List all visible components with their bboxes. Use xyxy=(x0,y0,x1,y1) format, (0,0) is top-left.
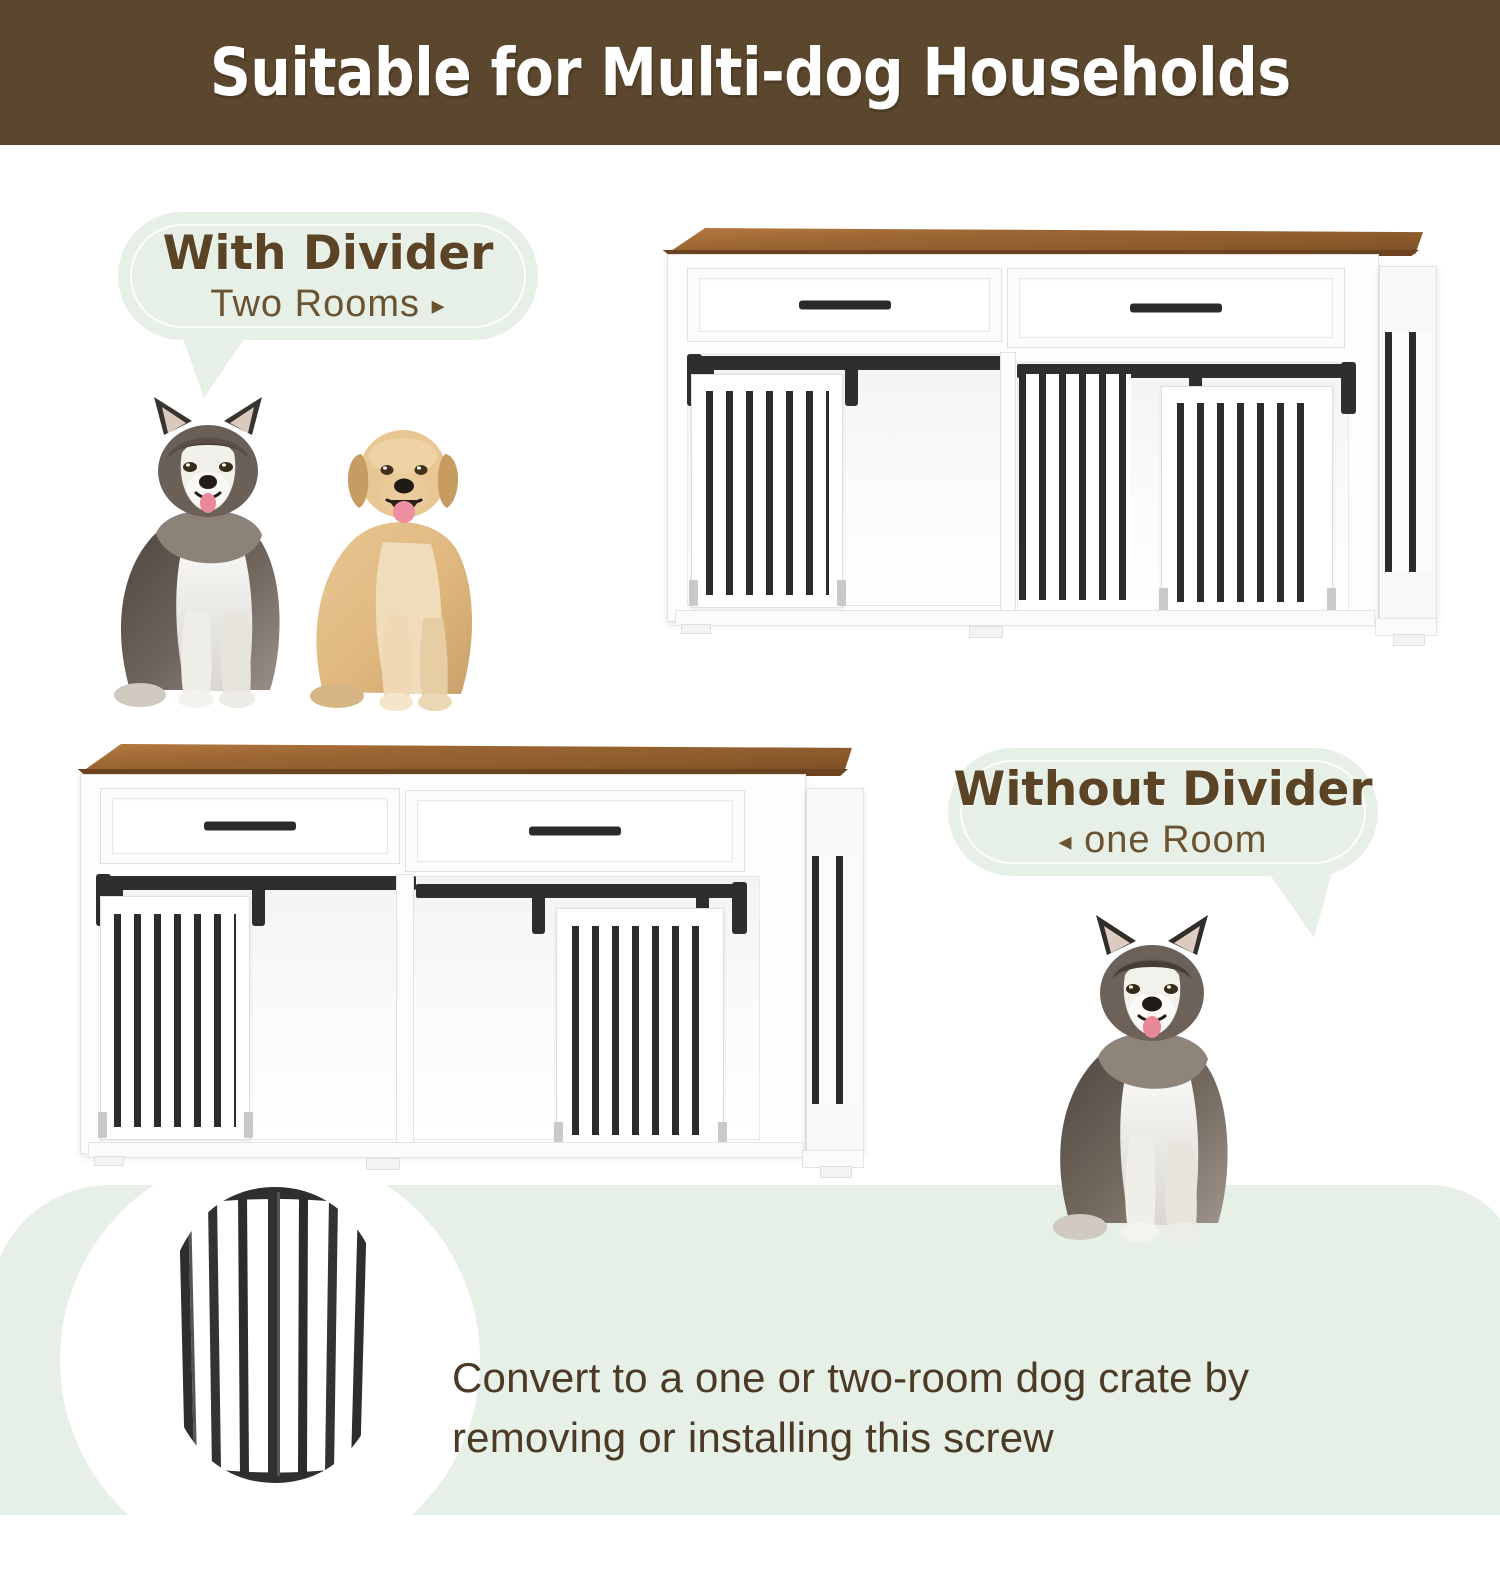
drawer-handle[interactable] xyxy=(204,822,296,831)
crate-wood-top xyxy=(66,744,852,772)
sliding-door-left-bars xyxy=(114,914,235,1127)
sliding-door-right-bars xyxy=(572,926,708,1135)
sliding-door-right[interactable] xyxy=(556,908,724,1148)
rail-end-cap-right xyxy=(732,882,747,934)
crate-plinth xyxy=(88,1142,804,1158)
door-hinge-left-bottom xyxy=(837,580,846,606)
dog-photo-malamute-single xyxy=(1040,905,1255,1250)
crate-side-bars-right xyxy=(1385,332,1431,572)
drawer-handle[interactable] xyxy=(799,301,891,310)
arrow-left-icon: ◂ xyxy=(1059,826,1073,856)
callout-with-divider-tail xyxy=(182,336,246,398)
crate-foot-center xyxy=(366,1158,400,1170)
door-hinge-left-top xyxy=(689,580,698,606)
crate-center-divider xyxy=(1000,352,1016,618)
door-hinge-left-bottom xyxy=(244,1112,253,1138)
crate-drawer-left[interactable] xyxy=(687,268,1002,342)
sliding-door-right[interactable] xyxy=(1161,386,1333,614)
rail-roller-left-b xyxy=(845,366,858,406)
dog-photo-labrador xyxy=(295,392,495,717)
callout-without-divider: Without Divider ◂ one Room xyxy=(948,748,1378,876)
crate-foot-left xyxy=(681,624,711,634)
drawer-handle[interactable] xyxy=(529,827,621,836)
callout-with-divider-subtitle-text: Two Rooms xyxy=(210,283,420,325)
bottom-caption: Convert to a one or two-room dog crate b… xyxy=(452,1348,1452,1467)
callout-with-divider: With Divider Two Rooms ▸ xyxy=(118,212,538,340)
sliding-door-left-bars xyxy=(706,391,829,595)
callout-with-divider-subtitle: Two Rooms ▸ xyxy=(210,283,445,326)
bar-panel-detail-circle xyxy=(155,1185,395,1485)
crate-side-bars-right xyxy=(812,856,858,1104)
crate-foot-right xyxy=(820,1166,852,1178)
page-title: Suitable for Multi-dog Households xyxy=(210,34,1291,111)
crate-drawer-left[interactable] xyxy=(100,788,400,864)
caption-line-2: removing or installing this screw xyxy=(452,1408,1452,1468)
crate-plinth xyxy=(675,610,1375,626)
crate-inner-wall-bars-right xyxy=(1019,374,1131,600)
dog-photo-malamute xyxy=(100,385,310,715)
callout-without-divider-subtitle-text: one Room xyxy=(1084,819,1267,861)
rail-roller-right-a xyxy=(532,894,545,934)
callout-without-divider-title: Without Divider xyxy=(953,762,1372,817)
header-banner: Suitable for Multi-dog Households xyxy=(0,0,1500,145)
crate-foot-left xyxy=(94,1156,124,1166)
callout-with-divider-title: With Divider xyxy=(163,226,494,281)
sliding-door-left[interactable] xyxy=(691,374,843,608)
rail-end-cap-right xyxy=(1341,362,1356,414)
crate-drawer-right[interactable] xyxy=(405,790,745,872)
crate-foot-right xyxy=(1393,634,1425,646)
drawer-handle[interactable] xyxy=(1130,304,1222,313)
product-crate-without-divider xyxy=(60,740,870,1190)
caption-line-1: Convert to a one or two-room dog crate b… xyxy=(452,1348,1452,1408)
sliding-door-left[interactable] xyxy=(100,896,250,1140)
rail-roller-left-b xyxy=(252,886,265,926)
callout-without-divider-tail xyxy=(1268,872,1332,938)
arrow-right-icon: ▸ xyxy=(432,290,446,320)
callout-without-divider-subtitle: ◂ one Room xyxy=(1059,819,1268,862)
product-crate-with-divider xyxy=(645,222,1435,652)
door-hinge-left-top xyxy=(98,1112,107,1138)
sliding-door-right-bars xyxy=(1177,403,1316,602)
crate-foot-center xyxy=(969,626,1003,638)
crate-drawer-right[interactable] xyxy=(1007,268,1345,348)
crate-frame-post-center xyxy=(396,874,414,1154)
